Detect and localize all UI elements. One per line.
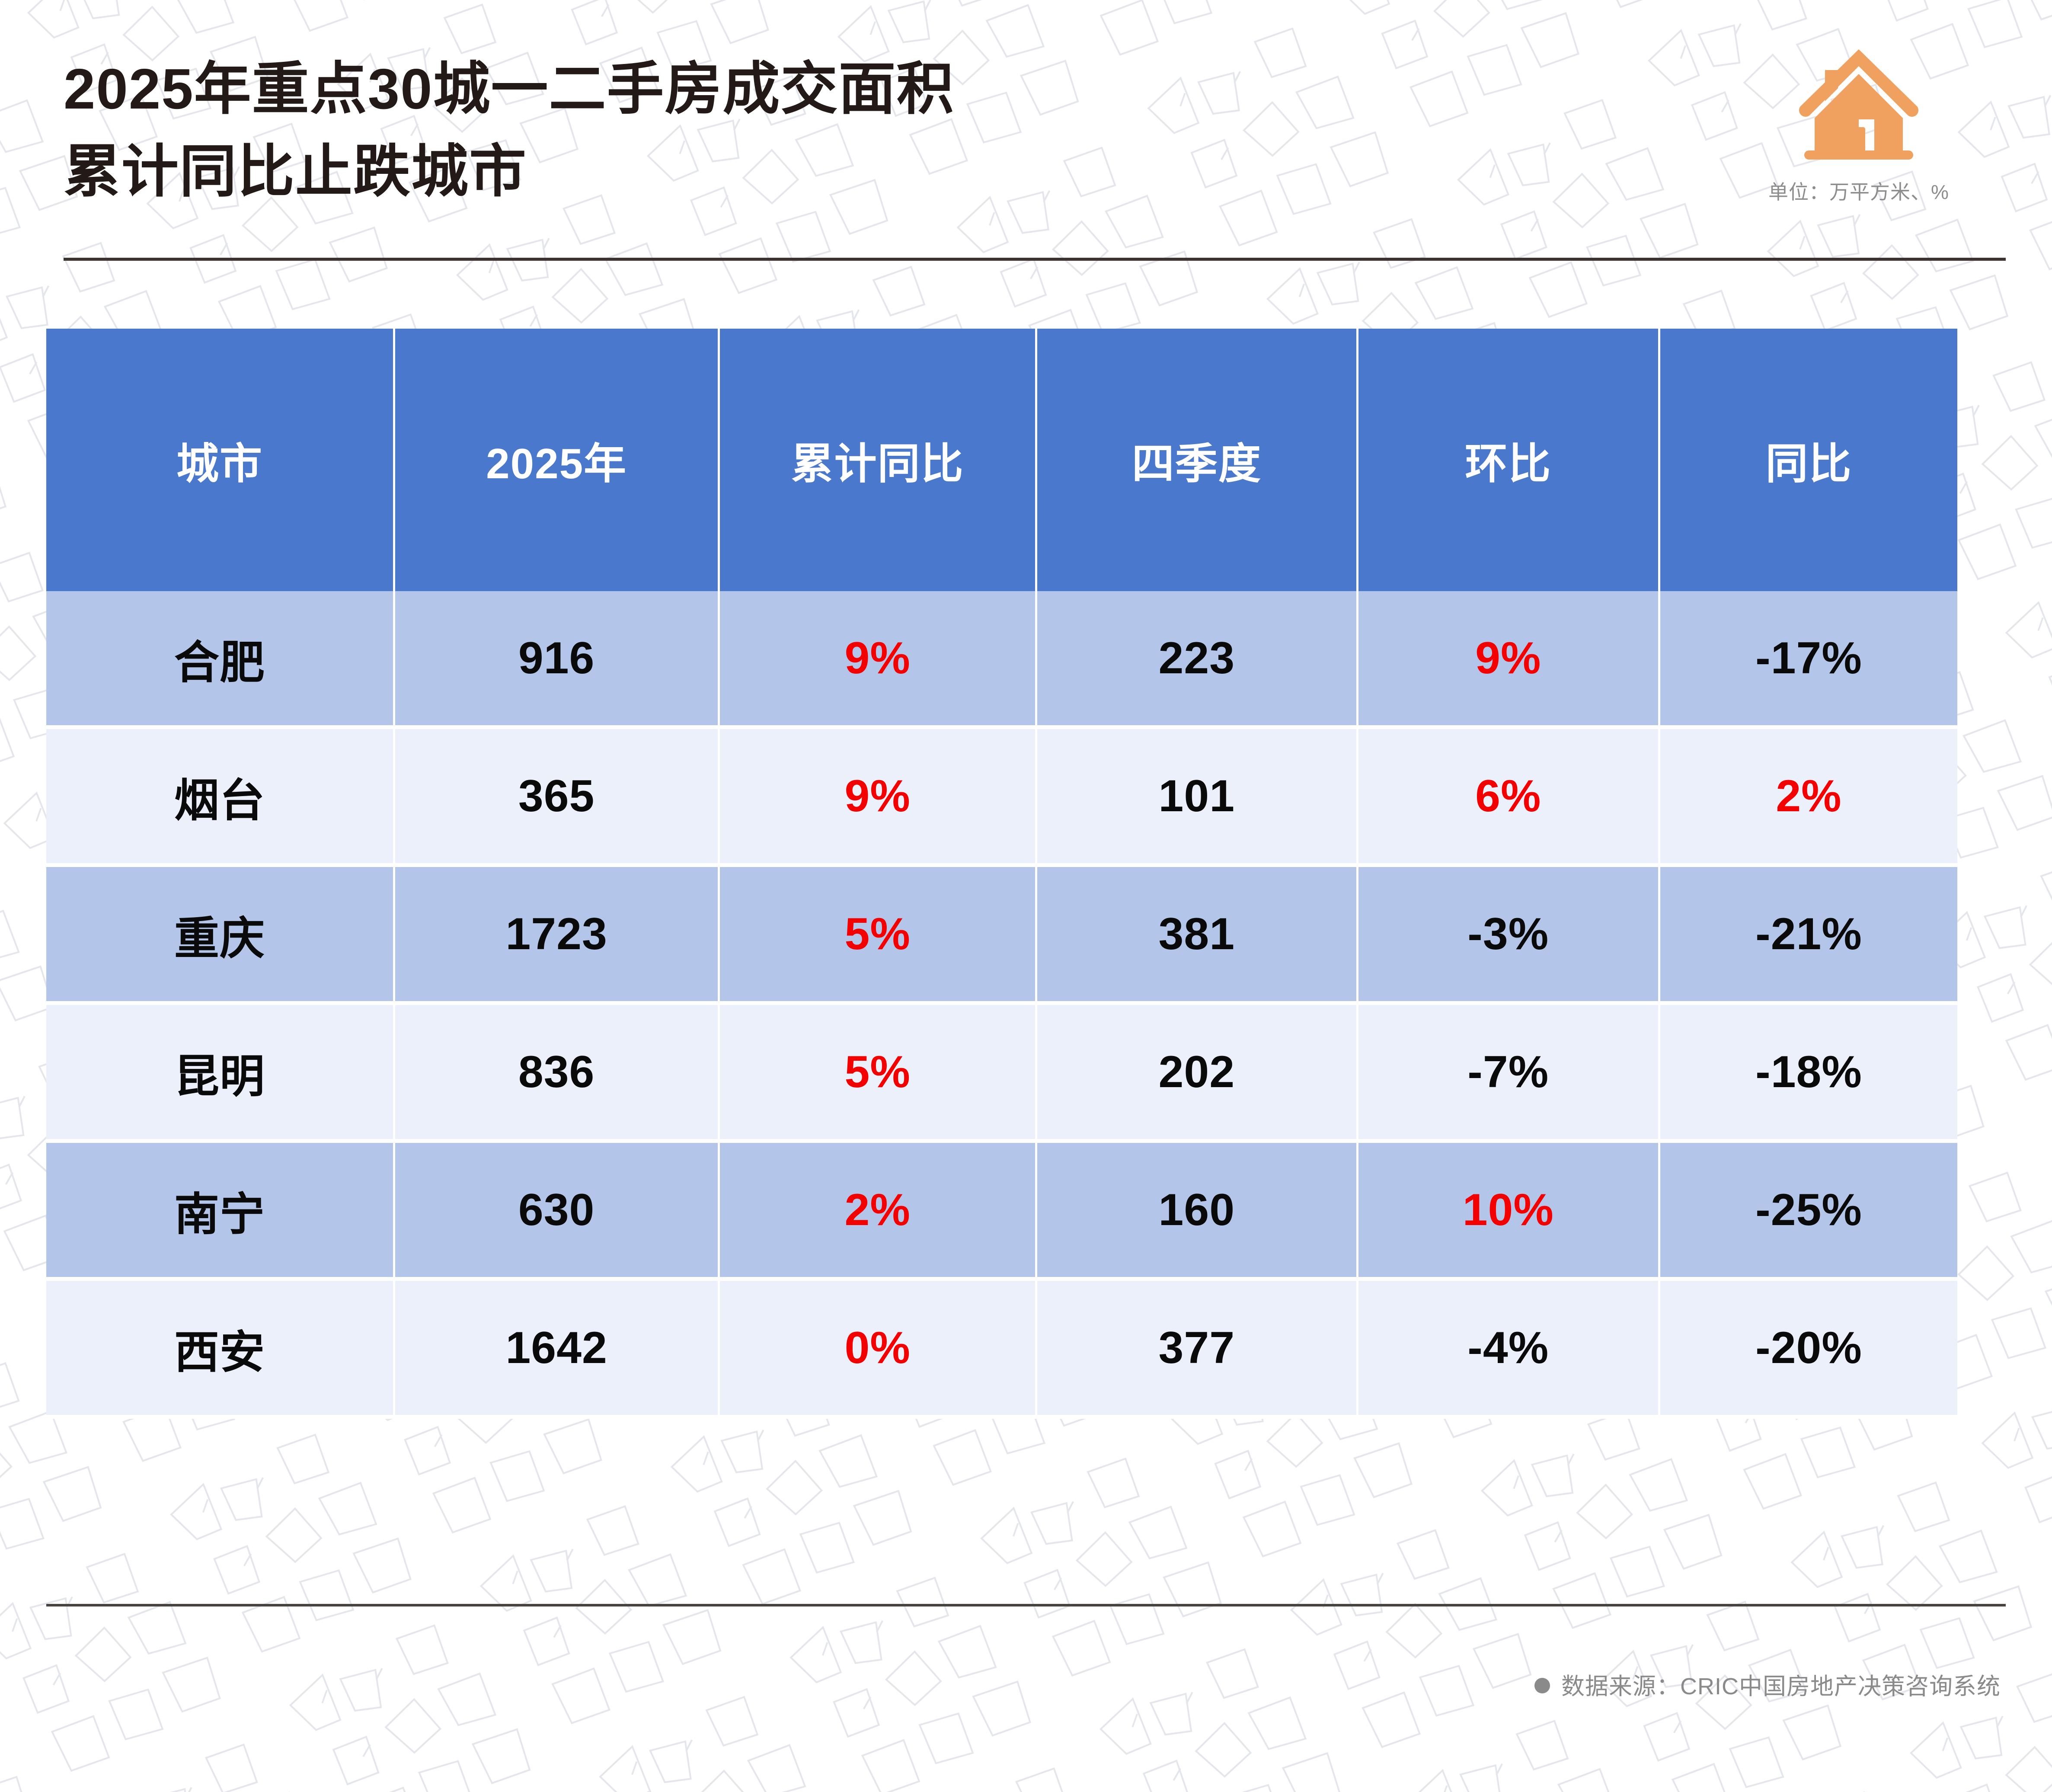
cell-city: 烟台 [46, 727, 394, 865]
cell-yoy: -17% [1659, 591, 1957, 727]
cell-year: 916 [394, 591, 719, 727]
cell-mom: -3% [1357, 865, 1659, 1003]
page-header: 2025年重点30城一二手房成交面积 累计同比止跌城市 单位：万平方米 [46, 0, 2006, 259]
header-divider [64, 258, 2006, 261]
cell-year: 630 [394, 1141, 719, 1279]
cell-yoy: -20% [1659, 1279, 1957, 1417]
cell-year: 1723 [394, 865, 719, 1003]
cell-mom: 6% [1357, 727, 1659, 865]
title-line-1: 2025年重点30城一二手房成交面积 [64, 48, 1490, 130]
data-source-text: 数据来源：CRIC中国房地产决策咨询系统 [1561, 1674, 2001, 1699]
house-icon [1792, 39, 1926, 169]
footer-divider [46, 1604, 2006, 1606]
bullet-dot-icon [1534, 1678, 1550, 1693]
data-table-wrapper: 城市 2025年 累计同比 四季度 环比 同比 合肥 916 9% 223 9%… [46, 329, 1957, 1419]
table-body: 合肥 916 9% 223 9% -17% 烟台 365 9% 101 6% 2… [46, 591, 1957, 1417]
cell-cum-yoy: 5% [719, 865, 1036, 1003]
cell-city: 西安 [46, 1279, 394, 1417]
column-header-cum-yoy[interactable]: 累计同比 [719, 329, 1036, 591]
data-table: 城市 2025年 累计同比 四季度 环比 同比 合肥 916 9% 223 9%… [46, 329, 1957, 1419]
data-source-note: 数据来源：CRIC中国房地产决策咨询系统 [46, 1667, 2006, 1701]
table-header: 城市 2025年 累计同比 四季度 环比 同比 [46, 329, 1957, 591]
cell-yoy: 2% [1659, 727, 1957, 865]
cell-city: 昆明 [46, 1003, 394, 1141]
table-header-row: 城市 2025年 累计同比 四季度 环比 同比 [46, 329, 1957, 591]
cell-cum-yoy: 2% [719, 1141, 1036, 1279]
cell-mom: -4% [1357, 1279, 1659, 1417]
table-row[interactable]: 南宁 630 2% 160 10% -25% [46, 1141, 1957, 1279]
cell-cum-yoy: 9% [719, 591, 1036, 727]
cell-cum-yoy: 9% [719, 727, 1036, 865]
cell-mom: 10% [1357, 1141, 1659, 1279]
column-header-city[interactable]: 城市 [46, 329, 394, 591]
cell-yoy: -25% [1659, 1141, 1957, 1279]
table-row[interactable]: 西安 1642 0% 377 -4% -20% [46, 1279, 1957, 1417]
cell-q4: 101 [1036, 727, 1358, 865]
column-header-mom[interactable]: 环比 [1357, 329, 1659, 591]
title-line-2: 累计同比止跌城市 [64, 130, 1490, 213]
column-header-year[interactable]: 2025年 [394, 329, 719, 591]
cell-cum-yoy: 0% [719, 1279, 1036, 1417]
table-row[interactable]: 昆明 836 5% 202 -7% -18% [46, 1003, 1957, 1141]
cell-q4: 160 [1036, 1141, 1358, 1279]
cell-yoy: -18% [1659, 1003, 1957, 1141]
cell-year: 836 [394, 1003, 719, 1141]
cell-city: 南宁 [46, 1141, 394, 1279]
cell-city: 重庆 [46, 865, 394, 1003]
cell-mom: -7% [1357, 1003, 1659, 1141]
table-row[interactable]: 重庆 1723 5% 381 -3% -21% [46, 865, 1957, 1003]
cell-mom: 9% [1357, 591, 1659, 727]
cell-yoy: -21% [1659, 865, 1957, 1003]
cell-q4: 381 [1036, 865, 1358, 1003]
cell-year: 1642 [394, 1279, 719, 1417]
cell-q4: 223 [1036, 591, 1358, 727]
cell-city: 合肥 [46, 591, 394, 727]
poster-page: 2025年重点30城一二手房成交面积 累计同比止跌城市 单位：万平方米 [0, 0, 2052, 1792]
table-row[interactable]: 烟台 365 9% 101 6% 2% [46, 727, 1957, 865]
page-title: 2025年重点30城一二手房成交面积 累计同比止跌城市 [64, 48, 1490, 213]
unit-note: 单位：万平方米、% [1725, 176, 1993, 205]
cell-q4: 377 [1036, 1279, 1358, 1417]
brand-block: 单位：万平方米、% [1725, 39, 1993, 205]
cell-year: 365 [394, 727, 719, 865]
column-header-q4[interactable]: 四季度 [1036, 329, 1358, 591]
page-footer: 数据来源：CRIC中国房地产决策咨询系统 [46, 1604, 2006, 1701]
cell-cum-yoy: 5% [719, 1003, 1036, 1141]
table-row[interactable]: 合肥 916 9% 223 9% -17% [46, 591, 1957, 727]
cell-q4: 202 [1036, 1003, 1358, 1141]
column-header-yoy[interactable]: 同比 [1659, 329, 1957, 591]
